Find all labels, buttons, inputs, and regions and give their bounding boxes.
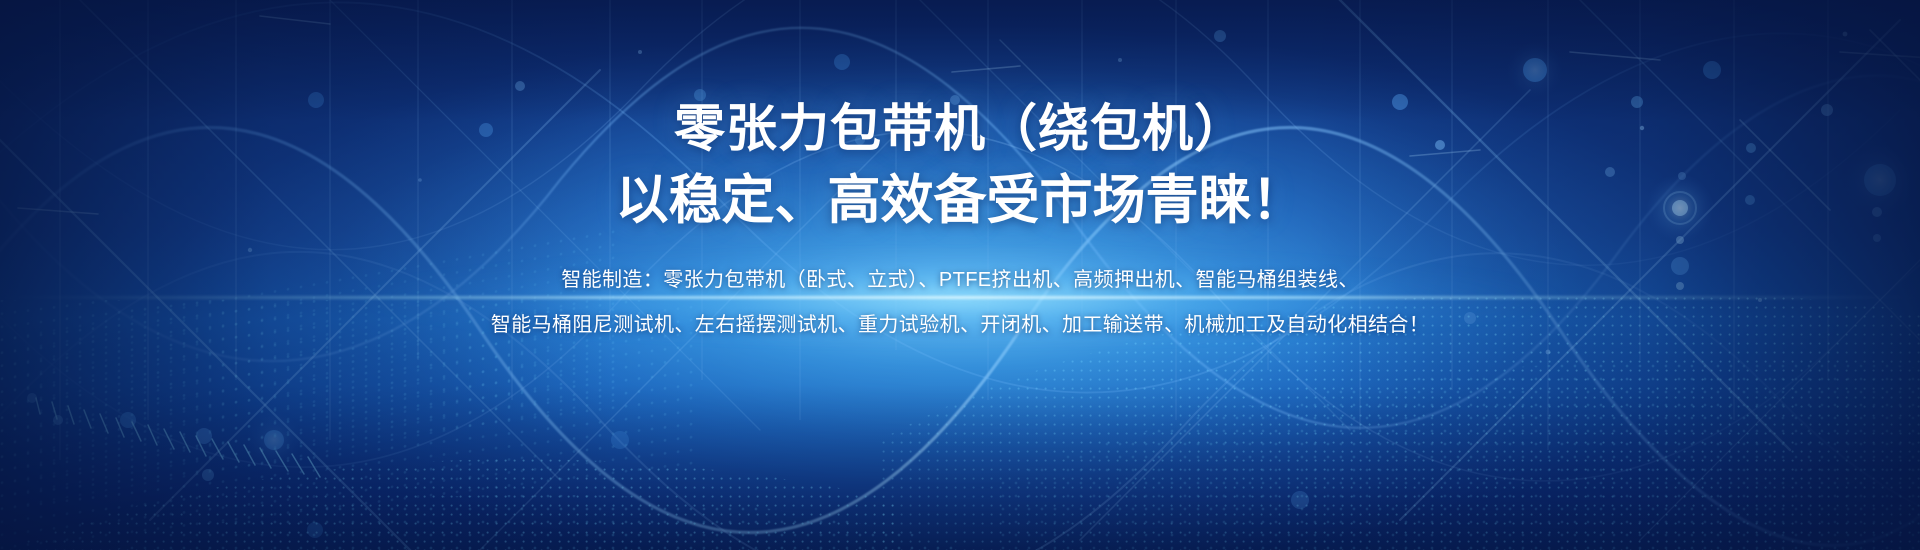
promo-banner: 零张力包带机（绕包机） 以稳定、高效备受市场青睐！ 智能制造：零张力包带机（卧式… bbox=[0, 0, 1920, 550]
subtitle-line-2: 智能马桶阻尼测试机、左右摇摆测试机、重力试验机、开闭机、加工输送带、机械加工及自… bbox=[491, 306, 1429, 345]
headline-line-2: 以稳定、高效备受市场青睐！ bbox=[616, 167, 1305, 235]
subtitle-line-1: 智能制造：零张力包带机（卧式、立式）、PTFE挤出机、高频押出机、智能马桶组装线… bbox=[561, 261, 1359, 300]
banner-content: 零张力包带机（绕包机） 以稳定、高效备受市场青睐！ 智能制造：零张力包带机（卧式… bbox=[0, 0, 1920, 550]
headline-line-1: 零张力包带机（绕包机） bbox=[674, 96, 1246, 161]
